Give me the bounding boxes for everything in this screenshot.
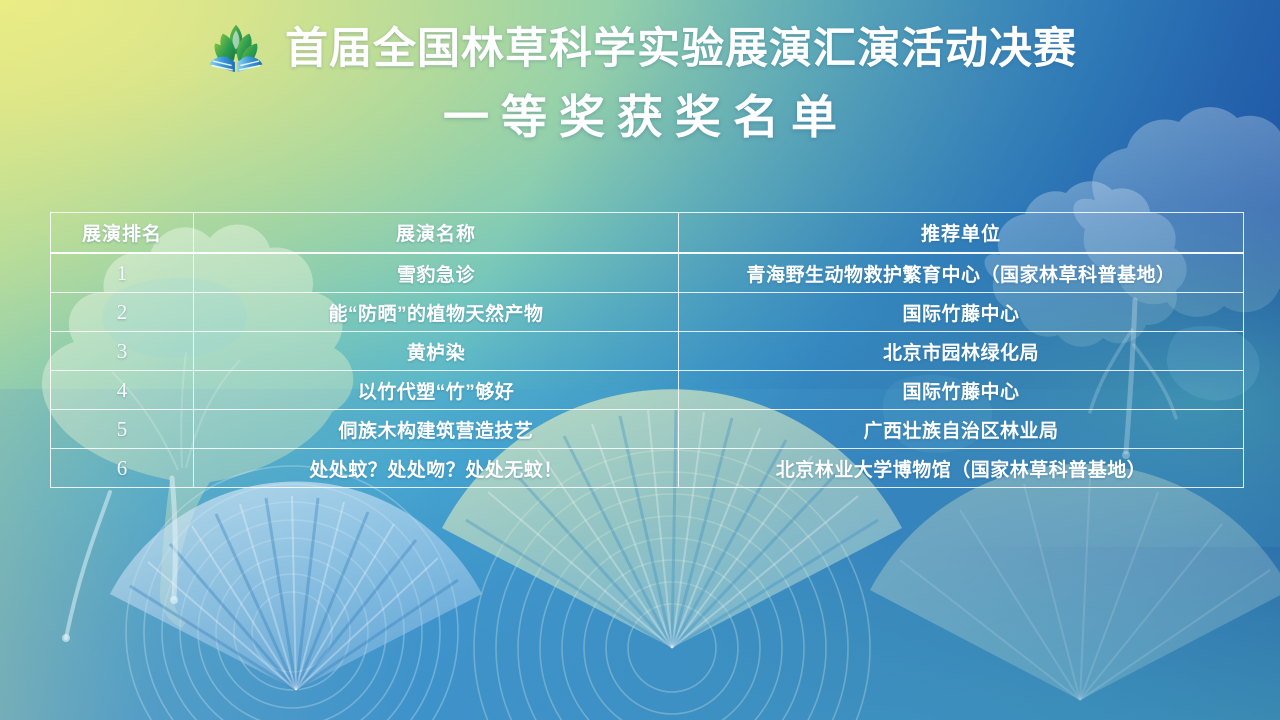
column-header-unit: 推荐单位 xyxy=(679,213,1244,254)
forestry-grassland-emblem-icon xyxy=(203,21,269,77)
cell-unit: 国际竹藤中心 xyxy=(679,293,1244,332)
table-body: 1 雪豹急诊 青海野生动物救护繁育中心（国家林草科普基地） 2 能“防晒”的植物… xyxy=(51,253,1244,488)
cell-name: 能“防晒”的植物天然产物 xyxy=(194,293,679,332)
cell-name: 黄栌染 xyxy=(194,332,679,371)
cell-unit: 青海野生动物救护繁育中心（国家林草科普基地） xyxy=(679,253,1244,293)
table-row: 4 以竹代塑“竹”够好 国际竹藤中心 xyxy=(51,371,1244,410)
title-row: 首届全国林草科学实验展演汇演活动决赛 xyxy=(0,18,1280,80)
award-table-container: 展演排名 展演名称 推荐单位 1 雪豹急诊 青海野生动物救护繁育中心（国家林草科… xyxy=(50,212,1243,488)
cell-name: 雪豹急诊 xyxy=(194,253,679,293)
cell-name: 侗族木构建筑营造技艺 xyxy=(194,410,679,449)
table-row: 3 黄栌染 北京市园林绿化局 xyxy=(51,332,1244,371)
cell-name: 以竹代塑“竹”够好 xyxy=(194,371,679,410)
cell-rank: 4 xyxy=(51,371,194,410)
page-title: 首届全国林草科学实验展演汇演活动决赛 xyxy=(285,21,1077,77)
table-header-row: 展演排名 展演名称 推荐单位 xyxy=(51,213,1244,254)
table-row: 2 能“防晒”的植物天然产物 国际竹藤中心 xyxy=(51,293,1244,332)
page-subtitle: 一等奖获奖名单 xyxy=(0,86,1280,148)
table-row: 1 雪豹急诊 青海野生动物救护繁育中心（国家林草科普基地） xyxy=(51,253,1244,293)
cell-unit: 国际竹藤中心 xyxy=(679,371,1244,410)
table-row: 5 侗族木构建筑营造技艺 广西壮族自治区林业局 xyxy=(51,410,1244,449)
cell-rank: 5 xyxy=(51,410,194,449)
slide-canvas: 首届全国林草科学实验展演汇演活动决赛 一等奖获奖名单 展演排名 展演名称 推荐单… xyxy=(0,0,1280,720)
slide-header: 首届全国林草科学实验展演汇演活动决赛 一等奖获奖名单 xyxy=(0,18,1280,148)
cell-unit: 北京林业大学博物馆（国家林草科普基地） xyxy=(679,449,1244,488)
cell-rank: 2 xyxy=(51,293,194,332)
cell-rank: 6 xyxy=(51,449,194,488)
column-header-rank: 展演排名 xyxy=(51,213,194,254)
cell-rank: 3 xyxy=(51,332,194,371)
award-table: 展演排名 展演名称 推荐单位 1 雪豹急诊 青海野生动物救护繁育中心（国家林草科… xyxy=(50,212,1244,488)
table-row: 6 处处蚊？处处吻？处处无蚊！ 北京林业大学博物馆（国家林草科普基地） xyxy=(51,449,1244,488)
column-header-name: 展演名称 xyxy=(194,213,679,254)
cell-unit: 广西壮族自治区林业局 xyxy=(679,410,1244,449)
cell-name: 处处蚊？处处吻？处处无蚊！ xyxy=(194,449,679,488)
cell-rank: 1 xyxy=(51,253,194,293)
cell-unit: 北京市园林绿化局 xyxy=(679,332,1244,371)
